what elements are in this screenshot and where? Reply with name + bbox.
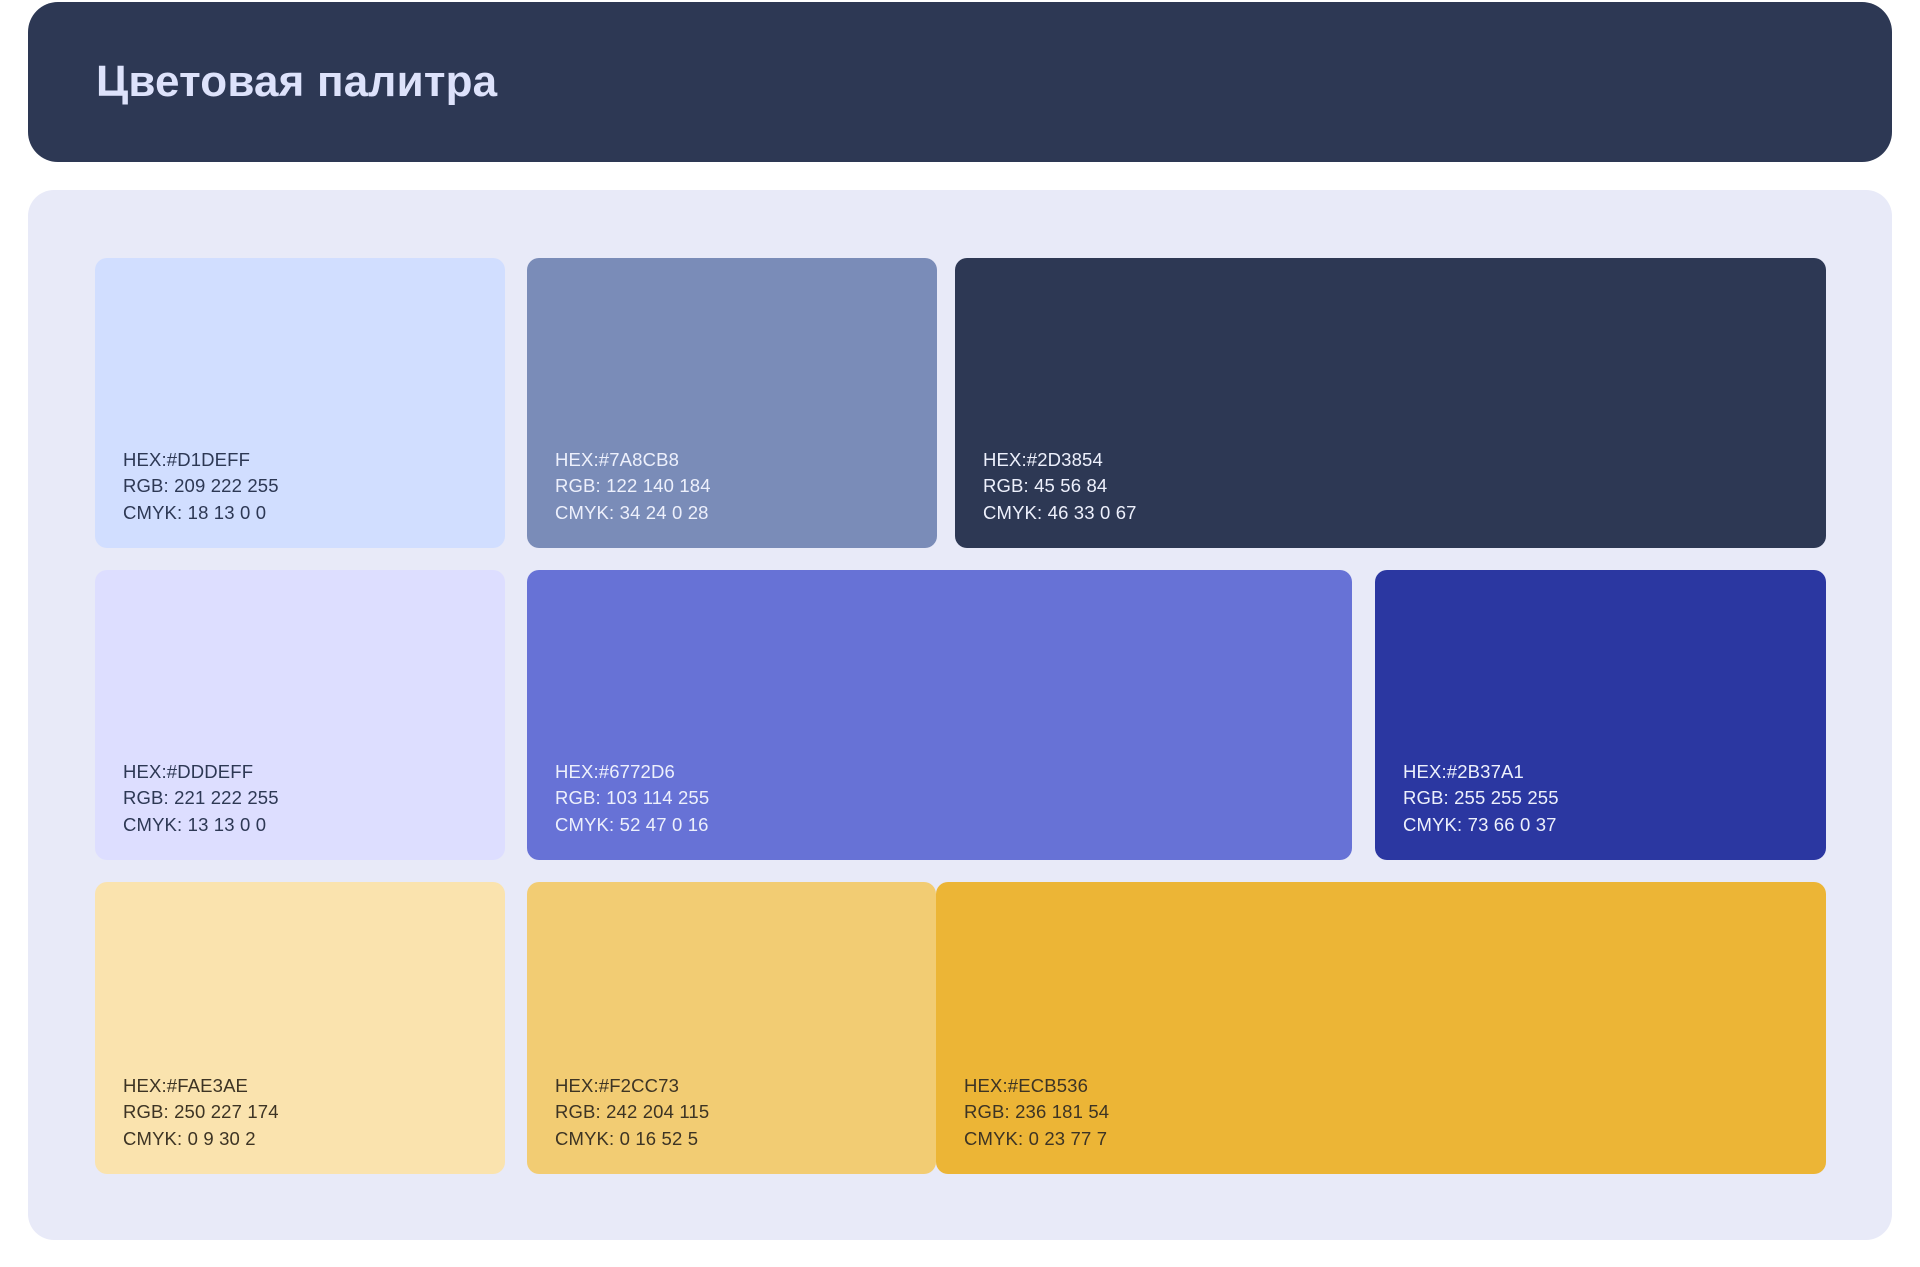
- swatch-card-3[interactable]: HEX:#2D3854 RGB: 45 56 84 CMYK: 46 33 0 …: [955, 258, 1826, 548]
- swatch-card-5[interactable]: HEX:#6772D6 RGB: 103 114 255 CMYK: 52 47…: [527, 570, 1352, 860]
- swatch-cmyk-9: CMYK: 0 23 77 7: [964, 1126, 1109, 1152]
- swatch-info-5: HEX:#6772D6 RGB: 103 114 255 CMYK: 52 47…: [555, 759, 709, 838]
- swatch-rgb-3: RGB: 45 56 84: [983, 473, 1137, 499]
- swatch-hex-4: HEX:#DDDEFF: [123, 759, 279, 785]
- swatch-hex-2: HEX:#7A8CB8: [555, 447, 711, 473]
- swatch-hex-7: HEX:#FAE3AE: [123, 1073, 279, 1099]
- swatch-info-9: HEX:#ECB536 RGB: 236 181 54 CMYK: 0 23 7…: [964, 1073, 1109, 1152]
- swatch-rgb-7: RGB: 250 227 174: [123, 1099, 279, 1125]
- swatch-hex-9: HEX:#ECB536: [964, 1073, 1109, 1099]
- swatch-rgb-1: RGB: 209 222 255: [123, 473, 279, 499]
- swatch-card-2[interactable]: HEX:#7A8CB8 RGB: 122 140 184 CMYK: 34 24…: [527, 258, 937, 548]
- swatch-cmyk-1: CMYK: 18 13 0 0: [123, 500, 279, 526]
- swatch-info-8: HEX:#F2CC73 RGB: 242 204 115 CMYK: 0 16 …: [555, 1073, 709, 1152]
- swatch-hex-3: HEX:#2D3854: [983, 447, 1137, 473]
- swatch-rgb-9: RGB: 236 181 54: [964, 1099, 1109, 1125]
- color-palette-page: Цветовая палитра HEX:#D1DEFF RGB: 209 22…: [0, 0, 1920, 1267]
- swatch-info-7: HEX:#FAE3AE RGB: 250 227 174 CMYK: 0 9 3…: [123, 1073, 279, 1152]
- swatch-card-4[interactable]: HEX:#DDDEFF RGB: 221 222 255 CMYK: 13 13…: [95, 570, 505, 860]
- page-title: Цветовая палитра: [96, 58, 497, 106]
- swatch-cmyk-8: CMYK: 0 16 52 5: [555, 1126, 709, 1152]
- swatch-rgb-2: RGB: 122 140 184: [555, 473, 711, 499]
- swatch-cmyk-7: CMYK: 0 9 30 2: [123, 1126, 279, 1152]
- swatch-card-6[interactable]: HEX:#2B37A1 RGB: 255 255 255 CMYK: 73 66…: [1375, 570, 1826, 860]
- swatch-info-3: HEX:#2D3854 RGB: 45 56 84 CMYK: 46 33 0 …: [983, 447, 1137, 526]
- swatch-info-2: HEX:#7A8CB8 RGB: 122 140 184 CMYK: 34 24…: [555, 447, 711, 526]
- swatch-hex-8: HEX:#F2CC73: [555, 1073, 709, 1099]
- swatch-info-6: HEX:#2B37A1 RGB: 255 255 255 CMYK: 73 66…: [1403, 759, 1559, 838]
- swatch-rgb-5: RGB: 103 114 255: [555, 785, 709, 811]
- swatch-info-4: HEX:#DDDEFF RGB: 221 222 255 CMYK: 13 13…: [123, 759, 279, 838]
- swatch-cmyk-3: CMYK: 46 33 0 67: [983, 500, 1137, 526]
- swatch-rgb-4: RGB: 221 222 255: [123, 785, 279, 811]
- swatch-hex-6: HEX:#2B37A1: [1403, 759, 1559, 785]
- swatch-info-1: HEX:#D1DEFF RGB: 209 222 255 CMYK: 18 13…: [123, 447, 279, 526]
- swatch-hex-5: HEX:#6772D6: [555, 759, 709, 785]
- swatch-card-7[interactable]: HEX:#FAE3AE RGB: 250 227 174 CMYK: 0 9 3…: [95, 882, 505, 1174]
- header-card: Цветовая палитра: [28, 2, 1892, 162]
- palette-panel: HEX:#D1DEFF RGB: 209 222 255 CMYK: 18 13…: [28, 190, 1892, 1240]
- swatch-rgb-8: RGB: 242 204 115: [555, 1099, 709, 1125]
- swatch-rgb-6: RGB: 255 255 255: [1403, 785, 1559, 811]
- swatch-card-1[interactable]: HEX:#D1DEFF RGB: 209 222 255 CMYK: 18 13…: [95, 258, 505, 548]
- swatch-cmyk-5: CMYK: 52 47 0 16: [555, 812, 709, 838]
- swatch-cmyk-2: CMYK: 34 24 0 28: [555, 500, 711, 526]
- swatch-cmyk-6: CMYK: 73 66 0 37: [1403, 812, 1559, 838]
- swatch-card-8[interactable]: HEX:#F2CC73 RGB: 242 204 115 CMYK: 0 16 …: [527, 882, 936, 1174]
- swatch-hex-1: HEX:#D1DEFF: [123, 447, 279, 473]
- swatch-card-9[interactable]: HEX:#ECB536 RGB: 236 181 54 CMYK: 0 23 7…: [936, 882, 1826, 1174]
- swatch-cmyk-4: CMYK: 13 13 0 0: [123, 812, 279, 838]
